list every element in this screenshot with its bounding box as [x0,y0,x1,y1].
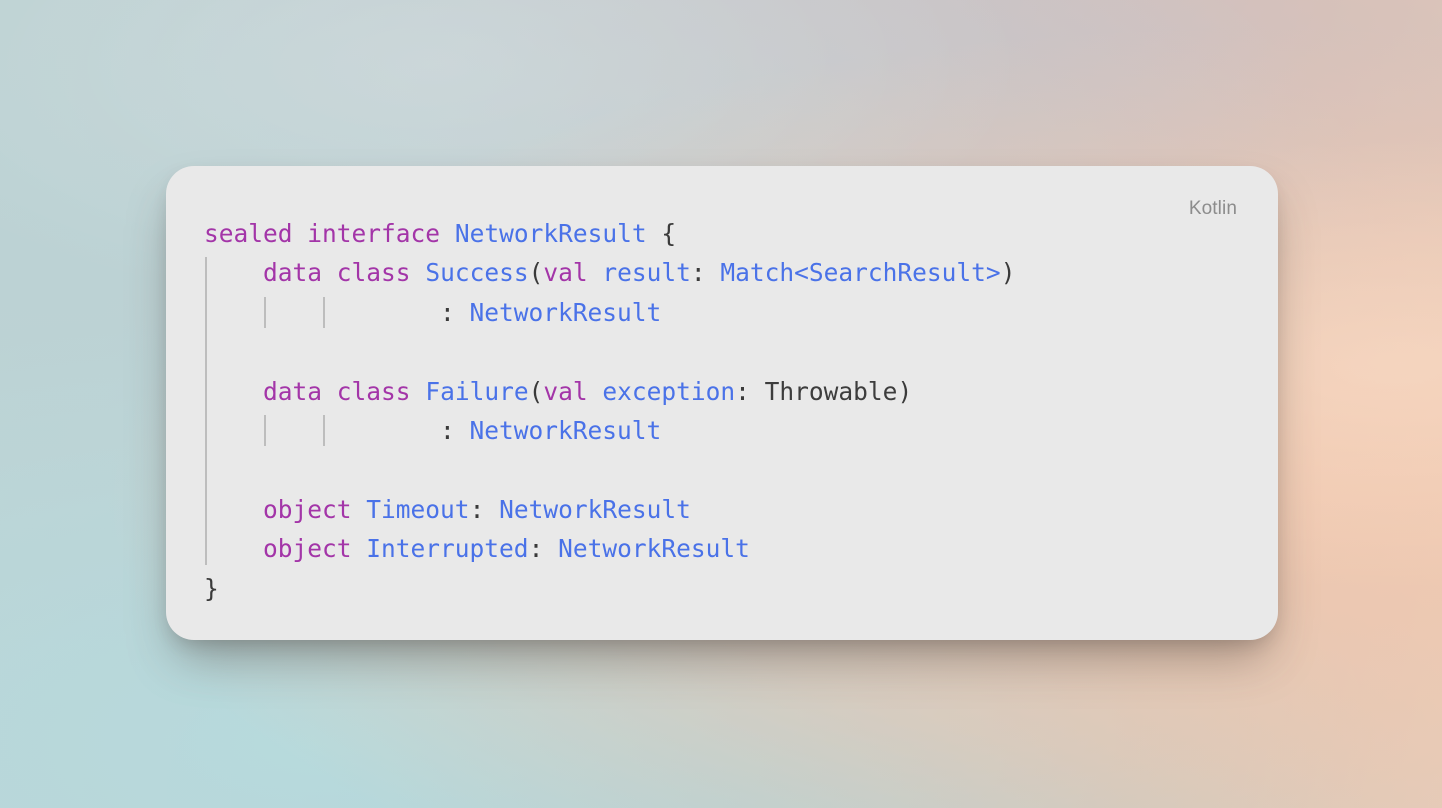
code-token-plain [411,258,426,287]
code-token-keyword: val [543,377,587,406]
code-token-plain [293,219,308,248]
code-token-type: NetworkResult [470,416,662,445]
code-token-plain [322,258,337,287]
code-token-punctuation: { [647,219,677,248]
code-token-type: Match<SearchResult> [720,258,1000,287]
code-token-identifier: exception [602,377,735,406]
code-token-plain [352,495,367,524]
code-token-plain [204,377,263,406]
code-token-punctuation: : [470,495,500,524]
code-token-punctuation: : [440,416,470,445]
code-block[interactable]: sealed interface NetworkResult { data cl… [204,214,1254,608]
code-line: : NetworkResult [204,411,1254,450]
code-token-punctuation: ) [1001,258,1016,287]
code-token-keyword: sealed [204,219,293,248]
code-token-type: NetworkResult [455,219,647,248]
code-token-plain [588,258,603,287]
code-token-punctuation: : [529,534,559,563]
code-token-type: NetworkResult [558,534,750,563]
code-token-keyword: val [543,258,587,287]
code-token-keyword: class [337,258,411,287]
code-line [204,332,1254,371]
code-line: object Timeout: NetworkResult [204,490,1254,529]
code-token-punctuation: ( [529,258,544,287]
code-token-plain [204,495,263,524]
code-token-plain: Throwable [765,377,898,406]
code-token-plain [204,534,263,563]
code-token-type: NetworkResult [470,298,662,327]
code-line: } [204,569,1254,608]
code-token-keyword: class [337,377,411,406]
code-token-type: Timeout [366,495,469,524]
code-token-punctuation: ) [897,377,912,406]
code-token-punctuation: : [735,377,765,406]
code-token-identifier: result [602,258,691,287]
code-token-type: Failure [425,377,528,406]
code-line: data class Success(val result: Match<Sea… [204,253,1254,292]
code-token-plain [588,377,603,406]
code-token-plain [204,416,440,445]
code-token-plain [204,298,440,327]
code-line: data class Failure(val exception: Throwa… [204,372,1254,411]
code-token-keyword: object [263,534,352,563]
code-token-plain [411,377,426,406]
code-token-keyword: data [263,377,322,406]
code-line: sealed interface NetworkResult { [204,214,1254,253]
code-token-punctuation: : [691,258,721,287]
code-token-keyword: object [263,495,352,524]
code-card: Kotlin sealed interface NetworkResult { … [166,166,1278,640]
code-token-plain [322,377,337,406]
code-line [204,450,1254,489]
code-token-type: Interrupted [366,534,528,563]
code-area[interactable]: sealed interface NetworkResult { data cl… [204,214,1254,622]
code-token-type: Success [425,258,528,287]
code-token-type: NetworkResult [499,495,691,524]
code-token-plain [204,258,263,287]
code-token-keyword: data [263,258,322,287]
code-line: : NetworkResult [204,293,1254,332]
code-token-plain [440,219,455,248]
code-line: object Interrupted: NetworkResult [204,529,1254,568]
code-token-keyword: interface [307,219,440,248]
code-token-punctuation: } [204,574,219,603]
code-token-punctuation: ( [529,377,544,406]
code-token-punctuation: : [440,298,470,327]
code-token-plain [352,534,367,563]
